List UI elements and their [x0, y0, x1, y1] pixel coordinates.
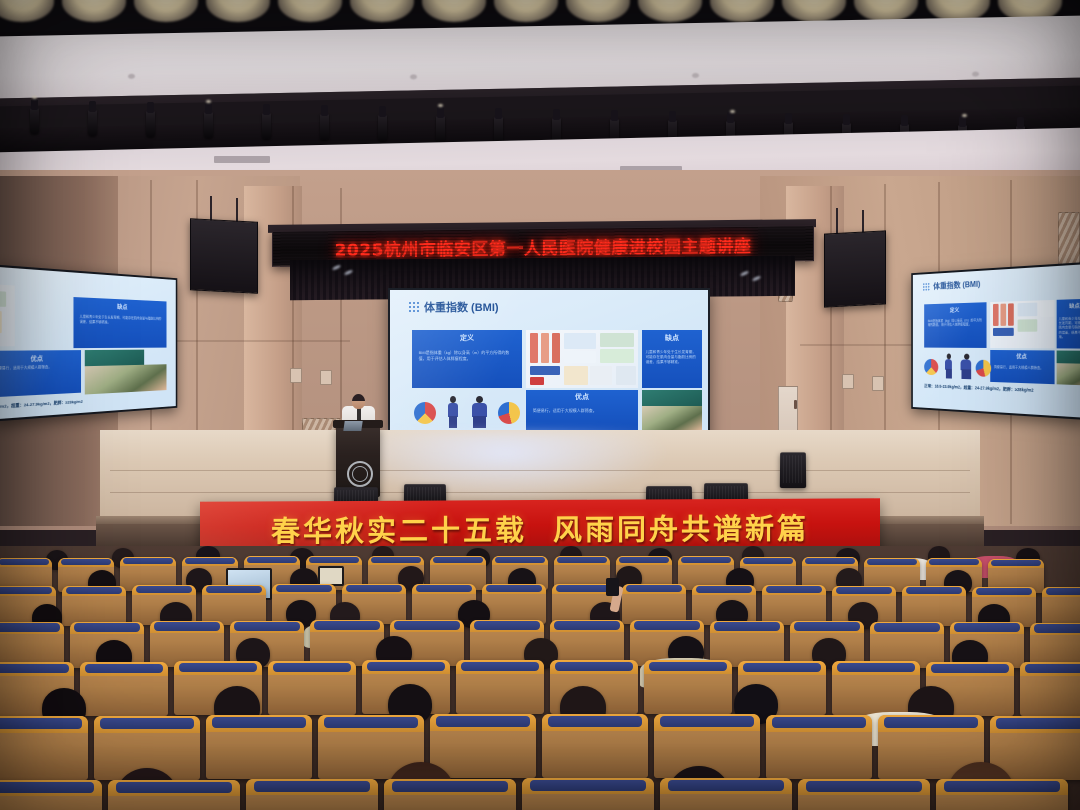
panel-body: 儿童和青少年处于生长发育期，可能存在肌肉含量与脂肪比例的误差，结果不够精准。	[646, 350, 699, 366]
slide-panel-disadvantages: 缺点 儿童和青少年处于生长发育期，可能存在肌肉含量与脂肪比例的误差，结果不够精准…	[1057, 299, 1080, 349]
auditorium-seat[interactable]	[660, 778, 792, 810]
panel-body: 简便易行，适用于大规模人群筛查。	[994, 365, 1051, 371]
slide-footer-text: 正常：18.5-23.9kg/m2，超重：24-27.9kg/m2，肥胖：≥28…	[924, 383, 1033, 394]
left-screen-slide: 缺点 儿童和青少年处于生长发育期，可能存在肌肉含量与脂肪比例的误差，结果不够精准…	[0, 267, 176, 419]
slide-title-text: 体重指数 (BMI)	[424, 299, 499, 315]
hanging-speaker-right	[824, 230, 886, 307]
slide-panel-advantages: 优点 简便易行，适用于大规模人群筛查。	[990, 350, 1054, 384]
panel-heading: 优点	[526, 392, 638, 402]
auditorium-seat[interactable]	[542, 714, 648, 778]
auditorium-seat[interactable]	[108, 780, 240, 810]
auditorium-seat[interactable]	[622, 584, 686, 624]
audience-tablet[interactable]	[318, 566, 344, 586]
audience-seating-area	[0, 546, 1080, 810]
wall-outlet	[320, 370, 332, 385]
presenter-head	[352, 394, 365, 409]
auditorium-seat[interactable]	[1020, 662, 1080, 716]
auditorium-seat[interactable]	[384, 779, 516, 810]
stage-light-fixture	[88, 110, 97, 136]
slide-title: 体重指数 (BMI)	[923, 279, 981, 293]
auditorium-seat[interactable]	[206, 715, 312, 779]
right-wall-screen: 体重指数 (BMI) 定义 BMI是指体重（kg）除以身高（m）的平方所得的数值…	[911, 262, 1080, 420]
panel-body: 简便易行，适用于大规模人群筛查。	[533, 408, 632, 414]
auditorium-seat[interactable]	[80, 662, 168, 716]
body-composition-figures	[412, 390, 522, 430]
auditorium-seat[interactable]	[482, 584, 546, 624]
slide-panel-disadvantages: 缺点 儿童和青少年处于生长发育期，可能存在肌肉含量与脂肪比例的误差，结果不够精准…	[642, 330, 702, 388]
center-screen-slide: 体重指数 (BMI) 定义 BMI是指体重（kg）除以身高（m）的平方所得的数值…	[390, 290, 708, 448]
panel-body: BMI是指体重（kg）除以身高（m）的平方所得的数值，用于评估人体胖瘦程度。	[419, 350, 516, 362]
auditorium-seat[interactable]	[0, 780, 102, 810]
body-composition-figures	[924, 349, 986, 381]
auditorium-seat[interactable]	[62, 586, 126, 626]
slide-collage	[990, 300, 1054, 348]
wall-vent-grille	[1058, 212, 1080, 266]
auditorium-seat[interactable]	[936, 779, 1068, 810]
wall-outlet	[290, 368, 302, 383]
slide-bullet-dots-icon	[408, 301, 420, 313]
auditorium-seat[interactable]	[766, 715, 872, 779]
panel-heading: 缺点	[1057, 302, 1080, 311]
auditorium-seat[interactable]	[902, 586, 966, 626]
wall-outlet	[842, 374, 854, 389]
presenter-laptop	[343, 421, 362, 431]
stage-light-fixture	[262, 113, 271, 139]
slide-bullet-dots-icon	[923, 282, 930, 291]
auditorium-seat[interactable]	[456, 660, 544, 714]
panel-heading: 缺点	[73, 300, 166, 312]
stage-light-fixture	[30, 108, 39, 134]
auditorium-seat[interactable]	[268, 661, 356, 715]
panel-heading: 优点	[0, 353, 81, 364]
panel-body: 儿童和青少年处于生长发育期，可能存在肌肉含量与脂肪比例的误差，结果不够精准。	[1059, 316, 1080, 340]
auditorium-seat[interactable]	[644, 660, 732, 714]
floor-speaker-right	[780, 452, 806, 488]
slide-panel-advantages: 优点 简便易行，适用于大规模人群筛查。	[526, 390, 638, 430]
slide-footer-text: 正常：18.5-23.9kg/m2，超重：24-27.9kg/m2，肥胖：≥28…	[0, 399, 83, 413]
slide-collage	[526, 330, 638, 388]
auditorium-seat[interactable]	[246, 779, 378, 810]
auditorium-seat[interactable]	[762, 585, 826, 625]
panel-body: 儿童和青少年处于生长发育期，可能存在肌肉含量与脂肪比例的误差，结果不够精准。	[80, 315, 162, 327]
slide-title-text: 体重指数 (BMI)	[933, 279, 980, 292]
auditorium-seat[interactable]	[1042, 587, 1080, 627]
auditorium-seat[interactable]	[832, 661, 920, 715]
red-banner-line-left: 春华秋实二十五载	[271, 507, 527, 550]
slide-title: 体重指数 (BMI)	[408, 299, 499, 315]
stage-light-fixture	[436, 116, 445, 142]
auditorium-seat[interactable]	[798, 779, 930, 810]
slide-collage	[0, 278, 15, 347]
podium-emblem-icon	[347, 461, 373, 487]
left-wall-screen: 缺点 儿童和青少年处于生长发育期，可能存在肌肉含量与脂肪比例的误差，结果不够精准…	[0, 264, 177, 421]
auditorium-photo: 2025杭州市临安区第一人民医院健康进校园主题讲座 缺点	[0, 0, 1080, 810]
auditorium-seat[interactable]	[202, 585, 266, 625]
panel-body: BMI是指体重（kg）除以身高（m）的平方所得的数值，用于评估人体胖瘦程度。	[928, 318, 983, 328]
stage-light-fixture	[146, 111, 155, 137]
ceiling-vent	[214, 156, 270, 163]
stage-light-fixture	[320, 114, 329, 140]
wall-outlet	[872, 376, 884, 391]
auditorium-seat[interactable]	[0, 716, 88, 780]
center-stage-screen: 体重指数 (BMI) 定义 BMI是指体重（kg）除以身高（m）的平方所得的数值…	[388, 288, 710, 450]
panel-heading: 定义	[924, 305, 986, 315]
auditorium-seat[interactable]	[430, 714, 536, 778]
slide-panel-definition: 定义 BMI是指体重（kg）除以身高（m）的平方所得的数值，用于评估人体胖瘦程度…	[412, 330, 522, 388]
stage-light-fixture	[494, 117, 503, 143]
panel-body: 简便易行，适用于大规模人群筛查。	[0, 365, 76, 372]
stage-light-fixture	[204, 112, 213, 138]
stage-light-fixture	[378, 115, 387, 141]
panel-heading: 定义	[412, 333, 522, 343]
red-banner-line-right: 风雨同舟共谱新篇	[553, 506, 809, 549]
panel-heading: 优点	[990, 352, 1054, 361]
slide-panel-advantages: 优点 简便易行，适用于大规模人群筛查。	[0, 350, 81, 397]
podium	[336, 425, 380, 497]
slide-panel-definition: 定义 BMI是指体重（kg）除以身高（m）的平方所得的数值，用于评估人体胖瘦程度…	[924, 302, 986, 348]
slide-panel-disadvantages: 缺点 儿童和青少年处于生长发育期，可能存在肌肉含量与脂肪比例的误差，结果不够精准…	[73, 297, 166, 348]
panel-heading: 缺点	[642, 333, 702, 343]
hanging-speaker-left	[190, 218, 258, 294]
right-screen-slide: 体重指数 (BMI) 定义 BMI是指体重（kg）除以身高（m）的平方所得的数值…	[913, 264, 1080, 418]
auditorium-seat[interactable]	[522, 778, 654, 810]
